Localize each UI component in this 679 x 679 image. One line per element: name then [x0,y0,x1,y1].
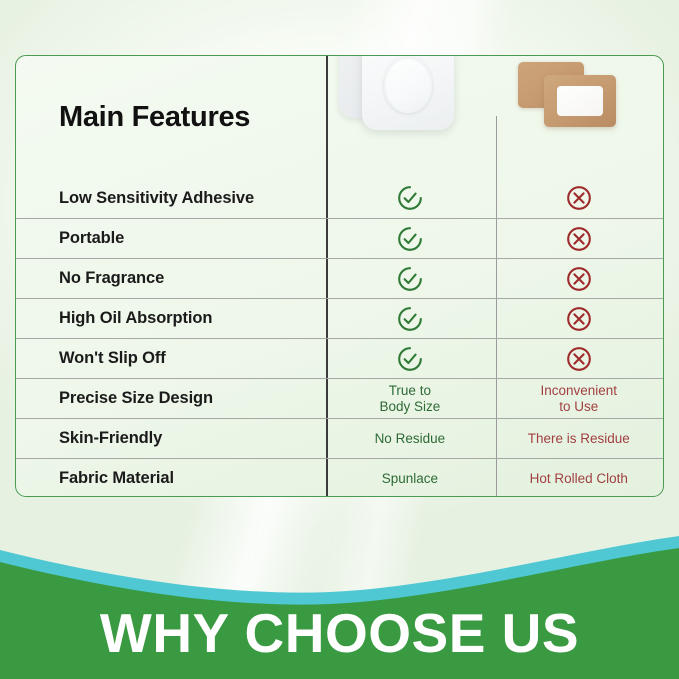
table-row: High Oil Absorption [16,298,663,338]
row-label: Low Sensitivity Adhesive [16,178,325,218]
table-row: Low Sensitivity Adhesive [16,178,663,218]
row-label: No Fragrance [16,259,325,298]
row-cell-theirs [495,299,663,338]
table-row: Won't Slip Off [16,338,663,378]
check-circle-icon [397,346,423,372]
header-cell-ours [324,56,494,178]
row-label: Portable [16,219,325,258]
row-cell-theirs: Hot Rolled Cloth [495,459,663,497]
row-cell-ours [325,339,494,378]
page-root: Main Features [0,0,679,679]
value-text-theirs: There is Residue [528,431,630,447]
table-row: No Fragrance [16,258,663,298]
row-cell-ours [325,259,494,298]
row-label: High Oil Absorption [16,299,325,338]
check-circle-icon [397,185,423,211]
cross-circle-icon [566,185,592,211]
header-cell-theirs [494,56,663,178]
cross-circle-icon [566,346,592,372]
row-cell-ours: No Residue [325,419,494,458]
value-text-ours: True to Body Size [379,383,440,415]
table-row: Fabric MaterialSpunlaceHot Rolled Cloth [16,458,663,497]
row-label: Precise Size Design [16,379,325,418]
value-text-ours: No Residue [375,431,446,447]
cross-circle-icon [566,266,592,292]
row-cell-ours: True to Body Size [325,379,494,418]
table-header-row: Main Features [16,56,663,178]
row-cell-ours [325,299,494,338]
row-cell-ours [325,219,494,258]
patch-front-shape [362,55,454,130]
table-row: Skin-FriendlyNo ResidueThere is Residue [16,418,663,458]
cross-circle-icon [566,226,592,252]
bandage-white-pad [557,86,603,116]
product-image-theirs [494,56,663,178]
banner-title: WHY CHOOSE US [0,606,679,661]
row-cell-theirs [495,339,663,378]
table-row: Portable [16,218,663,258]
row-cell-theirs [495,259,663,298]
check-circle-icon [397,266,423,292]
bandage-front-shape [544,75,616,127]
row-label: Won't Slip Off [16,339,325,378]
row-cell-theirs [495,219,663,258]
value-text-theirs: Hot Rolled Cloth [530,471,628,487]
value-text-theirs: Inconvenient to Use [541,383,618,415]
row-label: Skin-Friendly [16,419,325,458]
row-cell-theirs [495,178,663,218]
check-circle-icon [397,306,423,332]
row-cell-theirs: There is Residue [495,419,663,458]
table-row: Precise Size DesignTrue to Body SizeInco… [16,378,663,418]
page-title: Main Features [16,56,324,178]
product-image-ours [324,56,494,178]
check-circle-icon [397,226,423,252]
cross-circle-icon [566,306,592,332]
patch-oval-pad [384,57,432,113]
comparison-table: Main Features [15,55,664,497]
row-label: Fabric Material [16,459,325,497]
row-cell-ours: Spunlace [325,459,494,497]
row-cell-theirs: Inconvenient to Use [495,379,663,418]
value-text-ours: Spunlace [382,471,438,487]
row-cell-ours [325,178,494,218]
